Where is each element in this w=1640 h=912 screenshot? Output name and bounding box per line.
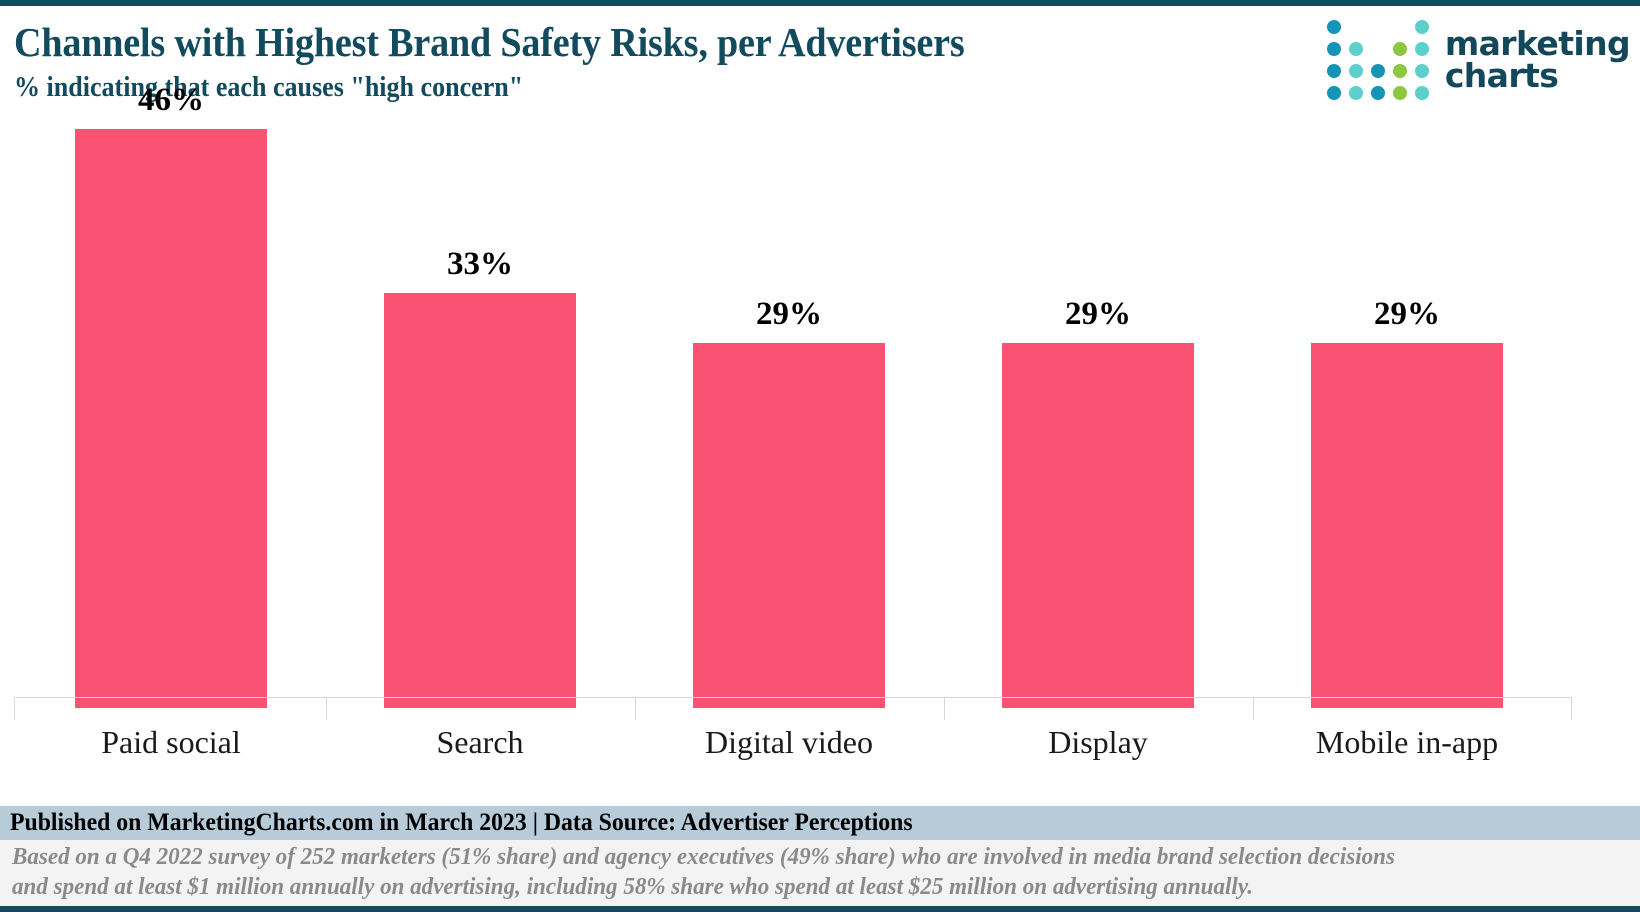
footer-source-band: Published on MarketingCharts.com in Marc…	[0, 806, 1640, 840]
x-axis-line	[14, 697, 1572, 698]
x-axis-tick	[944, 698, 945, 720]
logo-dot-r3-c3	[1371, 64, 1385, 78]
x-axis-tick	[326, 698, 327, 720]
logo-dot-r4-c4	[1393, 86, 1407, 100]
marketingcharts-logo[interactable]: marketing charts	[1327, 20, 1630, 100]
footer-source-text: Published on MarketingCharts.com in Marc…	[10, 809, 913, 837]
logo-dot-r3-c5	[1415, 64, 1429, 78]
bottom-border-rule	[0, 906, 1640, 912]
x-axis-category-label: Paid social	[16, 724, 326, 761]
logo-dot-r4-c1	[1327, 86, 1341, 100]
logo-dot-r2-c3	[1371, 42, 1385, 56]
plot-area: 46%33%29%29%29%	[0, 118, 1640, 708]
x-axis-end-tick-right	[1571, 698, 1572, 720]
logo-dot-r3-c4	[1393, 64, 1407, 78]
x-axis-end-tick-left	[14, 698, 15, 720]
bar[interactable]	[75, 129, 267, 708]
logo-dot-r1-c3	[1371, 20, 1385, 34]
x-axis-tick	[635, 698, 636, 720]
bar-value-label: 46%	[75, 82, 267, 119]
logo-dot-matrix-icon	[1327, 20, 1429, 100]
x-axis-category-label: Mobile in-app	[1252, 724, 1562, 761]
logo-wordmark: marketing charts	[1445, 28, 1630, 93]
logo-dot-r2-c5	[1415, 42, 1429, 56]
x-axis-category-label: Search	[325, 724, 635, 761]
logo-dot-r1-c5	[1415, 20, 1429, 34]
footer-methodology-note: Based on a Q4 2022 survey of 252 markete…	[0, 840, 1640, 906]
bar[interactable]	[384, 293, 576, 708]
footer-note-line-1: Based on a Q4 2022 survey of 252 markete…	[12, 844, 1395, 871]
footer-note-line-2: and spend at least $1 million annually o…	[12, 874, 1253, 901]
bar-value-label: 33%	[384, 246, 576, 283]
logo-dot-r3-c2	[1349, 64, 1363, 78]
chart-title: Channels with Highest Brand Safety Risks…	[14, 18, 964, 66]
logo-wordmark-line2: charts	[1445, 60, 1630, 92]
bar[interactable]	[1311, 343, 1503, 708]
logo-dot-r2-c1	[1327, 42, 1341, 56]
logo-dot-r2-c2	[1349, 42, 1363, 56]
x-axis-tick	[1253, 698, 1254, 720]
bar[interactable]	[693, 343, 885, 708]
logo-dot-r1-c2	[1349, 20, 1363, 34]
bar-value-label: 29%	[1311, 296, 1503, 333]
bar-value-label: 29%	[693, 296, 885, 333]
logo-dot-r4-c3	[1371, 86, 1385, 100]
x-axis-category-label: Digital video	[634, 724, 944, 761]
logo-dot-r4-c5	[1415, 86, 1429, 100]
logo-dot-r1-c1	[1327, 20, 1341, 34]
bar[interactable]	[1002, 343, 1194, 708]
logo-dot-r3-c1	[1327, 64, 1341, 78]
x-axis-category-label: Display	[943, 724, 1253, 761]
logo-dot-r2-c4	[1393, 42, 1407, 56]
bar-value-label: 29%	[1002, 296, 1194, 333]
logo-dot-r4-c2	[1349, 86, 1363, 100]
logo-dot-r1-c4	[1393, 20, 1407, 34]
chart-page: Channels with Highest Brand Safety Risks…	[0, 0, 1640, 912]
